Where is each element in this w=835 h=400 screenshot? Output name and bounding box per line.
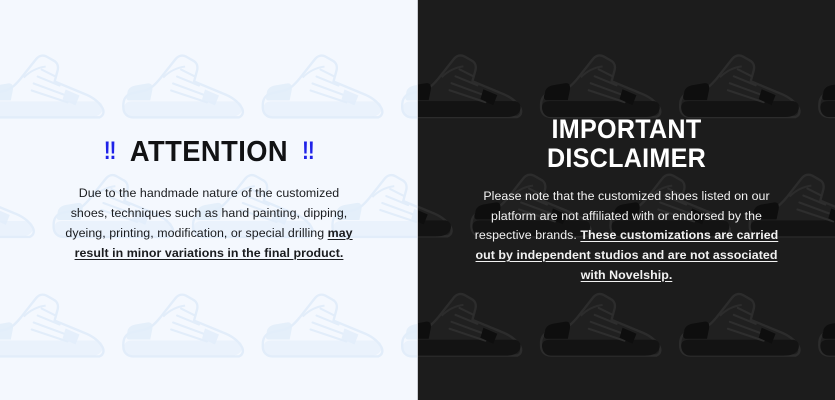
disclaimer-heading: IMPORTANT DISCLAIMER: [449, 115, 803, 173]
exclamation-left-icon: !!: [104, 138, 116, 164]
disclaimer-body: Please note that the customized shoes li…: [469, 187, 784, 285]
attention-content: !!ATTENTION!! Due to the handmade nature…: [0, 137, 418, 263]
attention-panel: !!ATTENTION!! Due to the handmade nature…: [0, 0, 418, 400]
disclaimer-heading-line1: IMPORTANT: [449, 115, 803, 144]
disclaimer-heading-line2: DISCLAIMER: [449, 144, 803, 173]
panel-divider: [417, 0, 418, 400]
disclaimer-content: IMPORTANT DISCLAIMER Please note that th…: [418, 115, 835, 285]
attention-heading-text: ATTENTION: [130, 136, 288, 168]
disclaimer-panel: IMPORTANT DISCLAIMER Please note that th…: [418, 0, 835, 400]
attention-body-normal: Due to the handmade nature of the custom…: [65, 186, 347, 240]
exclamation-right-icon: !!: [302, 138, 314, 164]
attention-heading: !!ATTENTION!!: [29, 137, 388, 167]
attention-body: Due to the handmade nature of the custom…: [59, 183, 359, 263]
disclaimer-banner: !!ATTENTION!! Due to the handmade nature…: [0, 0, 835, 400]
